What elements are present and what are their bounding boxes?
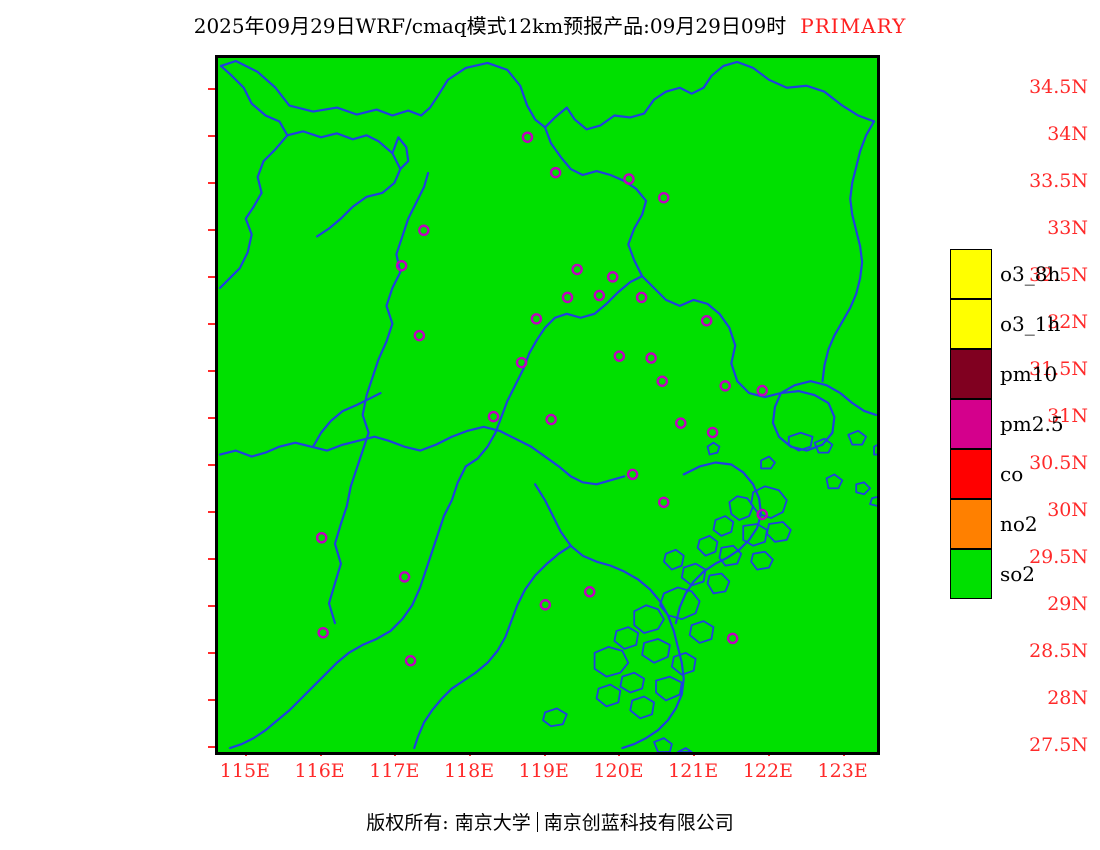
x-axis-tick-label: 121E (668, 760, 718, 782)
legend-color-swatch (950, 349, 992, 399)
station-marker[interactable] (615, 352, 624, 361)
pollutant-legend: o3_8ho3_1hpm10pm2.5cono2so2 (950, 249, 1100, 599)
y-axis-tick-label: 34.5N (880, 76, 1100, 98)
legend-row[interactable]: o3_8h (950, 249, 1100, 299)
footer-right-text: 南京创蓝科技有限公司 (544, 812, 734, 834)
legend-row[interactable]: o3_1h (950, 299, 1100, 349)
x-axis-tick-label: 117E (369, 760, 419, 782)
y-axis-tick (208, 558, 215, 560)
station-marker[interactable] (647, 353, 656, 362)
x-axis-tick-label: 115E (220, 760, 270, 782)
y-axis-tick (208, 323, 215, 325)
legend-label: pm10 (1000, 362, 1057, 386)
station-marker[interactable] (659, 193, 668, 202)
station-marker[interactable] (406, 656, 415, 665)
station-marker[interactable] (628, 470, 637, 479)
y-axis-tick (208, 652, 215, 654)
station-marker[interactable] (489, 412, 498, 421)
station-marker[interactable] (585, 587, 594, 596)
legend-label: co (1000, 462, 1023, 486)
legend-label: so2 (1000, 562, 1035, 586)
station-marker[interactable] (573, 265, 582, 274)
y-axis-tick-label: 33N (880, 217, 1100, 239)
y-axis-tick (208, 511, 215, 513)
legend-row[interactable]: pm10 (950, 349, 1100, 399)
station-markers[interactable] (317, 133, 767, 666)
station-marker[interactable] (659, 498, 668, 507)
legend-row[interactable]: so2 (950, 549, 1100, 599)
legend-row[interactable]: no2 (950, 499, 1100, 549)
station-marker[interactable] (658, 377, 667, 386)
footer-divider (537, 812, 538, 832)
legend-color-swatch (950, 499, 992, 549)
station-marker[interactable] (563, 293, 572, 302)
y-axis-tick (208, 746, 215, 748)
x-axis-tick-label: 120E (593, 760, 643, 782)
station-marker[interactable] (547, 415, 556, 424)
y-axis-tick-label: 28N (880, 687, 1100, 709)
legend-row[interactable]: pm2.5 (950, 399, 1100, 449)
legend-color-swatch (950, 299, 992, 349)
map-canvas[interactable] (215, 55, 880, 755)
station-marker[interactable] (702, 316, 711, 325)
y-axis-tick (208, 276, 215, 278)
legend-color-swatch (950, 549, 992, 599)
province-boundaries (220, 61, 876, 748)
y-axis-tick (208, 135, 215, 137)
legend-color-swatch (950, 449, 992, 499)
station-marker[interactable] (624, 174, 633, 183)
x-axis-tick-label: 119E (519, 760, 569, 782)
legend-label: o3_8h (1000, 262, 1060, 286)
y-axis-tick (208, 464, 215, 466)
copyright-footer: 版权所有: 南京大学南京创蓝科技有限公司 (0, 808, 1100, 835)
x-axis-tick-label: 118E (444, 760, 494, 782)
station-marker[interactable] (608, 272, 617, 281)
title-text: 2025年09月29日WRF/cmaq模式12km预报产品:09月29日09时 (194, 14, 787, 38)
station-marker[interactable] (523, 133, 532, 142)
y-axis-tick (208, 182, 215, 184)
y-axis-tick (208, 88, 215, 90)
station-marker[interactable] (721, 381, 730, 390)
y-axis-tick (208, 605, 215, 607)
station-marker[interactable] (676, 419, 685, 428)
station-marker[interactable] (551, 168, 560, 177)
x-axis-tick-label: 116E (295, 760, 345, 782)
y-axis-tick-label: 34N (880, 123, 1100, 145)
y-axis-tick (208, 417, 215, 419)
forecast-map-page: 2025年09月29日WRF/cmaq模式12km预报产品:09月29日09时P… (0, 0, 1100, 850)
y-axis-tick-label: 28.5N (880, 640, 1100, 662)
station-marker[interactable] (532, 314, 541, 323)
x-axis-tick-label: 123E (818, 760, 868, 782)
station-marker[interactable] (728, 634, 737, 643)
legend-color-swatch (950, 399, 992, 449)
y-axis-tick (208, 370, 215, 372)
station-marker[interactable] (415, 331, 424, 340)
station-marker[interactable] (637, 293, 646, 302)
station-marker[interactable] (419, 226, 428, 235)
station-marker[interactable] (758, 386, 767, 395)
y-axis-tick (208, 229, 215, 231)
station-marker[interactable] (708, 428, 717, 437)
station-marker[interactable] (541, 600, 550, 609)
y-axis-tick-label: 27.5N (880, 734, 1100, 756)
map-vector-layer (218, 58, 877, 752)
y-axis-tick (208, 699, 215, 701)
legend-row[interactable]: co (950, 449, 1100, 499)
footer-left-text: 版权所有: 南京大学 (366, 812, 530, 834)
legend-label: o3_1h (1000, 312, 1060, 336)
legend-label: pm2.5 (1000, 412, 1064, 436)
x-axis-tick-label: 122E (743, 760, 793, 782)
title-primary-label: PRIMARY (800, 14, 906, 38)
y-axis-tick-label: 33.5N (880, 170, 1100, 192)
legend-color-swatch (950, 249, 992, 299)
station-marker[interactable] (595, 291, 604, 300)
station-marker[interactable] (319, 628, 328, 637)
station-marker[interactable] (317, 533, 326, 542)
page-title: 2025年09月29日WRF/cmaq模式12km预报产品:09月29日09时P… (0, 10, 1100, 39)
legend-label: no2 (1000, 512, 1038, 536)
island-outlines (543, 114, 877, 752)
station-marker[interactable] (400, 572, 409, 581)
